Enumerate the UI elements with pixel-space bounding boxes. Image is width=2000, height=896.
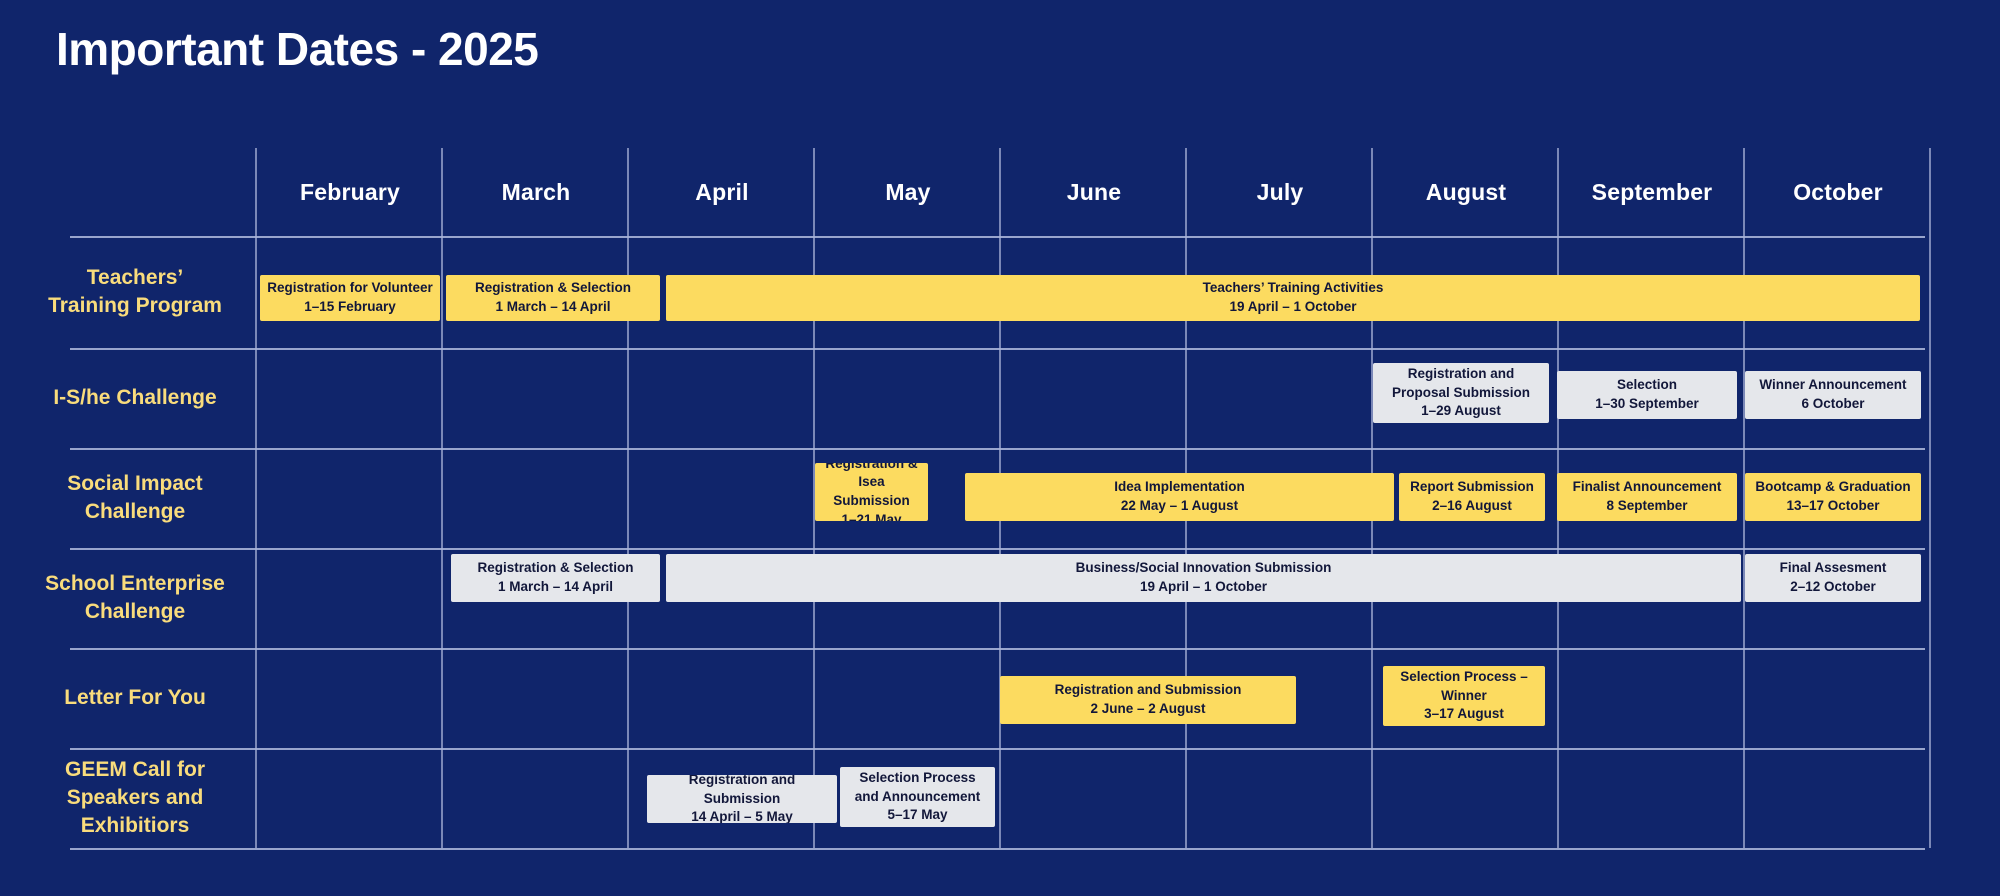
timeline-bar-r4-b0[interactable]: Registration and Submission2 June – 2 Au… bbox=[1000, 676, 1296, 724]
month-header-august: August bbox=[1373, 148, 1559, 236]
timeline-bar-r2-b2[interactable]: Report Submission2–16 August bbox=[1399, 473, 1545, 521]
bar-title: Report Submission bbox=[1410, 478, 1534, 497]
month-header-march: March bbox=[443, 148, 629, 236]
bar-title: Registration & Selection bbox=[475, 279, 631, 298]
month-header-may: May bbox=[815, 148, 1001, 236]
column-separator-2 bbox=[627, 148, 629, 848]
timeline-page: Important Dates - 2025 FebruaryMarchApri… bbox=[0, 0, 2000, 896]
bar-title: Registration and Submission bbox=[1055, 681, 1242, 700]
bar-dates: 3–17 August bbox=[1424, 705, 1504, 724]
bar-dates: 19 April – 1 October bbox=[1229, 298, 1356, 317]
row-label-3: School EnterpriseChallenge bbox=[14, 548, 256, 648]
bar-dates: 1–15 February bbox=[304, 298, 396, 317]
bar-dates: 6 October bbox=[1801, 395, 1864, 414]
timeline-bar-r2-b3[interactable]: Finalist Announcement8 September bbox=[1557, 473, 1737, 521]
timeline-bar-r2-b1[interactable]: Idea Implementation22 May – 1 August bbox=[965, 473, 1394, 521]
bar-title: Registration and Proposal Submission bbox=[1379, 365, 1543, 402]
row-separator-3 bbox=[70, 548, 1925, 550]
column-separator-9 bbox=[1929, 148, 1931, 848]
timeline-bar-r5-b1[interactable]: Selection Process and Announcement5–17 M… bbox=[840, 767, 995, 827]
row-separator-4 bbox=[70, 648, 1925, 650]
row-label-1: I-S/he Challenge bbox=[14, 348, 256, 448]
timeline-bar-r3-b2[interactable]: Final Assesment2–12 October bbox=[1745, 554, 1921, 602]
bar-dates: 2–16 August bbox=[1432, 497, 1512, 516]
timeline-bar-r1-b1[interactable]: Selection1–30 September bbox=[1557, 371, 1737, 419]
bar-dates: 19 April – 1 October bbox=[1140, 578, 1267, 597]
bar-dates: 1–30 September bbox=[1595, 395, 1699, 414]
row-separator-0 bbox=[70, 236, 1925, 238]
bar-dates: 2–12 October bbox=[1790, 578, 1876, 597]
timeline-bar-r0-b2[interactable]: Teachers’ Training Activities19 April – … bbox=[666, 275, 1920, 321]
row-separator-5 bbox=[70, 748, 1925, 750]
row-separator-2 bbox=[70, 448, 1925, 450]
bar-title: Final Assesment bbox=[1780, 559, 1887, 578]
column-separator-1 bbox=[441, 148, 443, 848]
bar-dates: 2 June – 2 August bbox=[1090, 700, 1205, 719]
row-label-0: Teachers’Training Program bbox=[14, 236, 256, 348]
row-separator-1 bbox=[70, 348, 1925, 350]
bar-title: Registration & Isea Submission bbox=[821, 463, 922, 511]
row-label-2: Social ImpactChallenge bbox=[14, 448, 256, 548]
timeline-bar-r5-b0[interactable]: Registration and Submission14 April – 5 … bbox=[647, 775, 837, 823]
bar-dates: 1–21 May bbox=[841, 511, 901, 521]
row-label-5: GEEM Call forSpeakers andExhibitiors bbox=[14, 748, 256, 848]
month-header-october: October bbox=[1745, 148, 1931, 236]
bar-title: Business/Social Innovation Submission bbox=[1076, 559, 1332, 578]
bar-title: Selection Process and Announcement bbox=[846, 769, 989, 806]
page-title: Important Dates - 2025 bbox=[56, 22, 538, 76]
bar-dates: 1–29 August bbox=[1421, 402, 1501, 421]
bar-title: Winner Announcement bbox=[1759, 376, 1906, 395]
month-header-june: June bbox=[1001, 148, 1187, 236]
bar-dates: 14 April – 5 May bbox=[691, 808, 793, 823]
timeline-bar-r2-b0[interactable]: Registration & Isea Submission1–21 May bbox=[815, 463, 928, 521]
bar-dates: 1 March – 14 April bbox=[498, 578, 613, 597]
bar-title: Teachers’ Training Activities bbox=[1203, 279, 1384, 298]
bar-title: Selection Process – Winner bbox=[1389, 668, 1539, 705]
timeline-bar-r0-b0[interactable]: Registration for Volunteer1–15 February bbox=[260, 275, 440, 321]
timeline-bar-r3-b1[interactable]: Business/Social Innovation Submission19 … bbox=[666, 554, 1741, 602]
month-header-september: September bbox=[1559, 148, 1745, 236]
bar-dates: 22 May – 1 August bbox=[1121, 497, 1238, 516]
bar-title: Registration & Selection bbox=[477, 559, 633, 578]
row-separator-6 bbox=[70, 848, 1925, 850]
timeline-bar-r1-b2[interactable]: Winner Announcement6 October bbox=[1745, 371, 1921, 419]
bar-title: Selection bbox=[1617, 376, 1677, 395]
row-label-4: Letter For You bbox=[14, 648, 256, 748]
bar-dates: 1 March – 14 April bbox=[495, 298, 610, 317]
month-header-april: April bbox=[629, 148, 815, 236]
timeline-bar-r0-b1[interactable]: Registration & Selection1 March – 14 Apr… bbox=[446, 275, 660, 321]
bar-title: Idea Implementation bbox=[1114, 478, 1245, 497]
bar-title: Bootcamp & Graduation bbox=[1755, 478, 1910, 497]
timeline-bar-r1-b0[interactable]: Registration and Proposal Submission1–29… bbox=[1373, 363, 1549, 423]
bar-dates: 8 September bbox=[1606, 497, 1687, 516]
bar-title: Registration for Volunteer bbox=[267, 279, 433, 298]
timeline-bar-r4-b1[interactable]: Selection Process – Winner3–17 August bbox=[1383, 666, 1545, 726]
bar-dates: 5–17 May bbox=[887, 806, 947, 825]
bar-title: Finalist Announcement bbox=[1573, 478, 1722, 497]
bar-dates: 13–17 October bbox=[1786, 497, 1879, 516]
timeline-bar-r2-b4[interactable]: Bootcamp & Graduation13–17 October bbox=[1745, 473, 1921, 521]
bar-title: Registration and Submission bbox=[653, 775, 831, 808]
month-header-february: February bbox=[257, 148, 443, 236]
timeline-bar-r3-b0[interactable]: Registration & Selection1 March – 14 Apr… bbox=[451, 554, 660, 602]
month-header-july: July bbox=[1187, 148, 1373, 236]
timeline-grid: FebruaryMarchAprilMayJuneJulyAugustSepte… bbox=[0, 148, 2000, 848]
